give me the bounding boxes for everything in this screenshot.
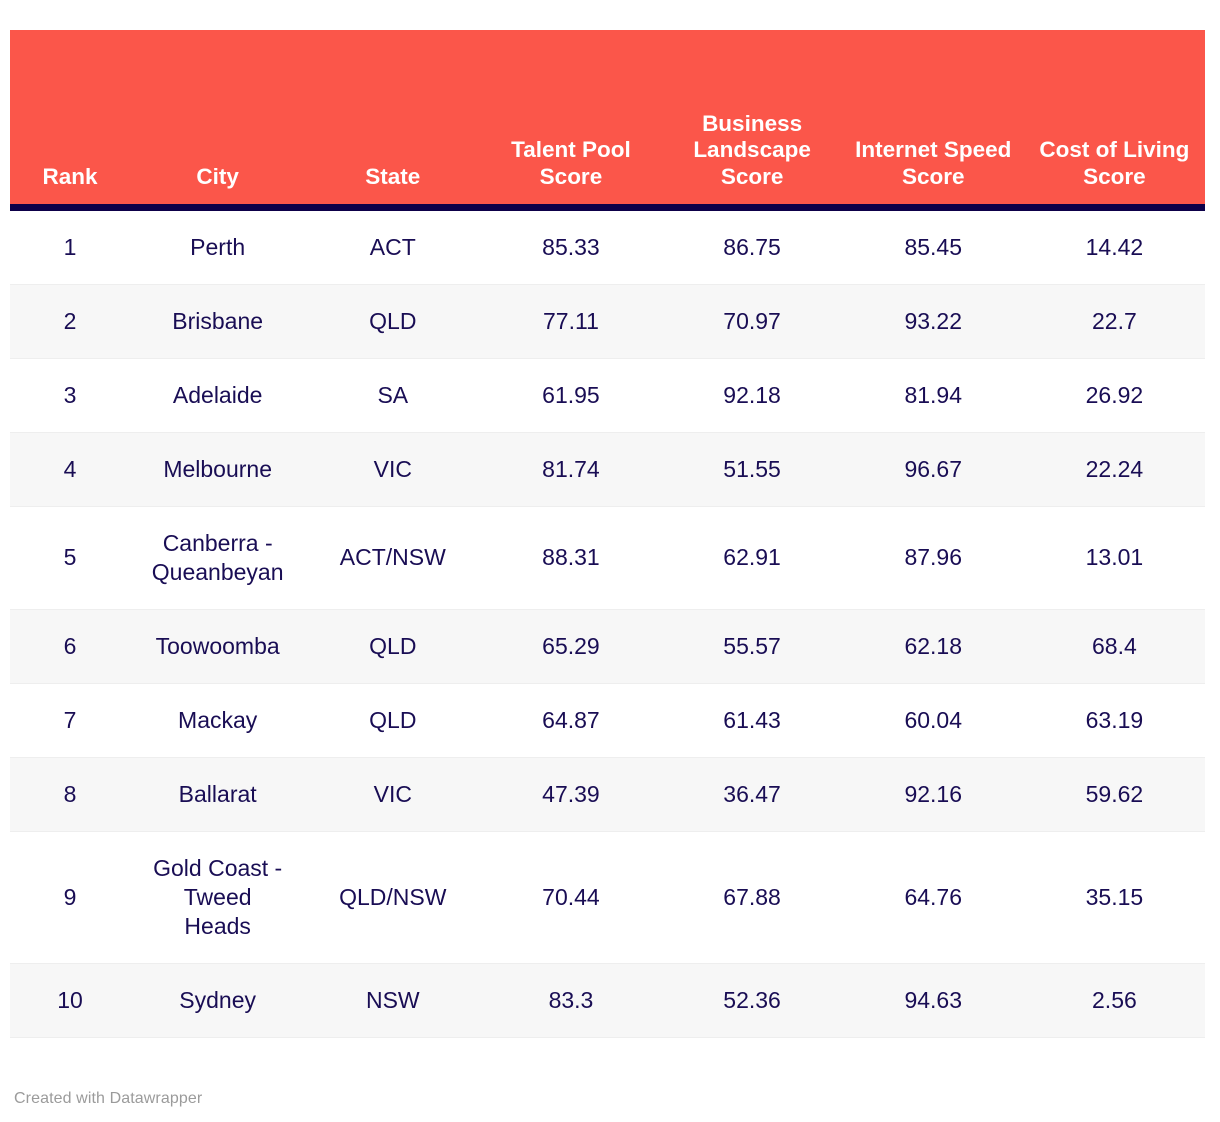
- cell-city: Toowoomba: [130, 609, 305, 683]
- cell-rank: 2: [10, 284, 130, 358]
- cell-business: 62.91: [662, 506, 843, 609]
- cell-talent: 83.3: [480, 963, 661, 1037]
- column-header-internet-speed-score[interactable]: Internet Speed Score: [843, 30, 1024, 204]
- cell-cost: 26.92: [1024, 358, 1205, 432]
- cell-internet: 93.22: [843, 284, 1024, 358]
- cell-cost: 35.15: [1024, 831, 1205, 963]
- cell-state: VIC: [305, 432, 480, 506]
- cell-business: 86.75: [662, 211, 843, 284]
- cell-state: SA: [305, 358, 480, 432]
- column-header-talent-pool-score[interactable]: Talent Pool Score: [480, 30, 661, 204]
- cell-city: Ballarat: [130, 757, 305, 831]
- cell-talent: 61.95: [480, 358, 661, 432]
- table-row: 2BrisbaneQLD77.1170.9793.2222.7: [10, 284, 1205, 358]
- cell-talent: 47.39: [480, 757, 661, 831]
- cell-state: NSW: [305, 963, 480, 1037]
- cell-cost: 63.19: [1024, 683, 1205, 757]
- cell-business: 55.57: [662, 609, 843, 683]
- cell-state: VIC: [305, 757, 480, 831]
- cell-cost: 68.4: [1024, 609, 1205, 683]
- datawrapper-credit: Created with Datawrapper: [14, 1090, 202, 1108]
- datawrapper-table-chart: Rank City State Talent Pool Score Busine…: [0, 0, 1220, 1122]
- cell-state: QLD: [305, 683, 480, 757]
- table-row: 4MelbourneVIC81.7451.5596.6722.24: [10, 432, 1205, 506]
- cell-state: ACT: [305, 211, 480, 284]
- column-header-rank[interactable]: Rank: [10, 30, 130, 204]
- cell-cost: 14.42: [1024, 211, 1205, 284]
- cell-city: Sydney: [130, 963, 305, 1037]
- cell-rank: 10: [10, 963, 130, 1037]
- cell-business: 61.43: [662, 683, 843, 757]
- table-row: 7MackayQLD64.8761.4360.0463.19: [10, 683, 1205, 757]
- table-row: 5Canberra - QueanbeyanACT/NSW88.3162.918…: [10, 506, 1205, 609]
- cell-state: QLD: [305, 284, 480, 358]
- cell-talent: 70.44: [480, 831, 661, 963]
- cell-city: Brisbane: [130, 284, 305, 358]
- header-divider-rule: [10, 204, 1205, 211]
- column-header-cost-of-living-score[interactable]: Cost of Living Score: [1024, 30, 1205, 204]
- cell-internet: 60.04: [843, 683, 1024, 757]
- cell-city: Melbourne: [130, 432, 305, 506]
- cell-business: 52.36: [662, 963, 843, 1037]
- cell-internet: 81.94: [843, 358, 1024, 432]
- cell-rank: 5: [10, 506, 130, 609]
- table-row: 8BallaratVIC47.3936.4792.1659.62: [10, 757, 1205, 831]
- column-header-city[interactable]: City: [130, 30, 305, 204]
- cell-city: Adelaide: [130, 358, 305, 432]
- cell-business: 92.18: [662, 358, 843, 432]
- cell-cost: 59.62: [1024, 757, 1205, 831]
- cell-internet: 64.76: [843, 831, 1024, 963]
- cell-city: Gold Coast - Tweed Heads: [130, 831, 305, 963]
- cell-rank: 6: [10, 609, 130, 683]
- cell-internet: 85.45: [843, 211, 1024, 284]
- cell-business: 67.88: [662, 831, 843, 963]
- cell-cost: 13.01: [1024, 506, 1205, 609]
- cell-rank: 8: [10, 757, 130, 831]
- cell-rank: 1: [10, 211, 130, 284]
- cell-rank: 9: [10, 831, 130, 963]
- column-header-business-landscape-score[interactable]: Business Landscape Score: [662, 30, 843, 204]
- cell-internet: 87.96: [843, 506, 1024, 609]
- cell-state: QLD/NSW: [305, 831, 480, 963]
- cell-rank: 4: [10, 432, 130, 506]
- table-row: 10SydneyNSW83.352.3694.632.56: [10, 963, 1205, 1037]
- cell-talent: 81.74: [480, 432, 661, 506]
- table-row: 9Gold Coast - Tweed HeadsQLD/NSW70.4467.…: [10, 831, 1205, 963]
- cell-talent: 88.31: [480, 506, 661, 609]
- cell-talent: 85.33: [480, 211, 661, 284]
- cell-internet: 92.16: [843, 757, 1024, 831]
- table-body: 1PerthACT85.3386.7585.4514.422BrisbaneQL…: [10, 211, 1205, 1037]
- cell-cost: 22.24: [1024, 432, 1205, 506]
- cell-city: Mackay: [130, 683, 305, 757]
- cell-state: ACT/NSW: [305, 506, 480, 609]
- cell-business: 36.47: [662, 757, 843, 831]
- cell-talent: 65.29: [480, 609, 661, 683]
- cell-city: Canberra - Queanbeyan: [130, 506, 305, 609]
- cell-cost: 2.56: [1024, 963, 1205, 1037]
- header-divider-cell: [10, 204, 1205, 211]
- cell-internet: 62.18: [843, 609, 1024, 683]
- cell-rank: 3: [10, 358, 130, 432]
- cell-business: 51.55: [662, 432, 843, 506]
- table-header-row: Rank City State Talent Pool Score Busine…: [10, 30, 1205, 204]
- table-row: 6ToowoombaQLD65.2955.5762.1868.4: [10, 609, 1205, 683]
- table-header: Rank City State Talent Pool Score Busine…: [10, 30, 1205, 211]
- ranking-table: Rank City State Talent Pool Score Busine…: [10, 30, 1205, 1038]
- table-row: 1PerthACT85.3386.7585.4514.42: [10, 211, 1205, 284]
- column-header-state[interactable]: State: [305, 30, 480, 204]
- table-row: 3AdelaideSA61.9592.1881.9426.92: [10, 358, 1205, 432]
- cell-state: QLD: [305, 609, 480, 683]
- cell-internet: 96.67: [843, 432, 1024, 506]
- cell-talent: 64.87: [480, 683, 661, 757]
- cell-rank: 7: [10, 683, 130, 757]
- cell-business: 70.97: [662, 284, 843, 358]
- cell-talent: 77.11: [480, 284, 661, 358]
- cell-cost: 22.7: [1024, 284, 1205, 358]
- cell-internet: 94.63: [843, 963, 1024, 1037]
- cell-city: Perth: [130, 211, 305, 284]
